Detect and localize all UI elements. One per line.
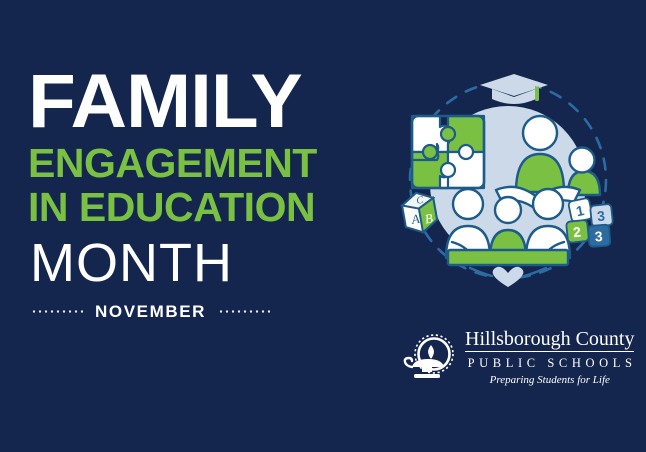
headline-line-engagement: ENGAGEMENT bbox=[28, 142, 408, 185]
headline-line-month: MONTH bbox=[30, 235, 408, 292]
table-top bbox=[448, 250, 568, 265]
svg-text:3: 3 bbox=[594, 228, 603, 245]
logo-tagline: Preparing Students for Life bbox=[490, 374, 610, 387]
headline-block: FAMILY ENGAGEMENT IN EDUCATION MONTH NOV… bbox=[28, 66, 408, 322]
poster-canvas: FAMILY ENGAGEMENT IN EDUCATION MONTH NOV… bbox=[0, 0, 646, 452]
heart-icon bbox=[470, 267, 546, 287]
dotted-rule-left-icon bbox=[31, 310, 83, 313]
graduation-cap-icon bbox=[480, 74, 548, 104]
dotted-rule-right-icon bbox=[218, 310, 270, 313]
headline-line-family: FAMILY bbox=[28, 66, 419, 138]
month-name-label: NOVEMBER bbox=[95, 302, 206, 322]
headline-line-in-education: IN EDUCATION bbox=[28, 186, 408, 229]
logo-text-block: Hillsborough County PUBLIC SCHOOLS Prepa… bbox=[463, 329, 637, 386]
month-name-row: NOVEMBER bbox=[31, 302, 281, 322]
number-blocks-icon: 1 3 2 3 bbox=[566, 198, 613, 247]
logo-district-name: Hillsborough County bbox=[465, 329, 634, 352]
family-engagement-illustration: A B C 1 3 2 3 bbox=[392, 62, 624, 294]
district-logo: Hillsborough County PUBLIC SCHOOLS Prepa… bbox=[400, 328, 612, 388]
logo-public-schools: PUBLIC SCHOOLS bbox=[463, 355, 637, 371]
jigsaw-puzzle-icon bbox=[408, 112, 488, 192]
lamp-of-knowledge-icon bbox=[400, 334, 456, 382]
